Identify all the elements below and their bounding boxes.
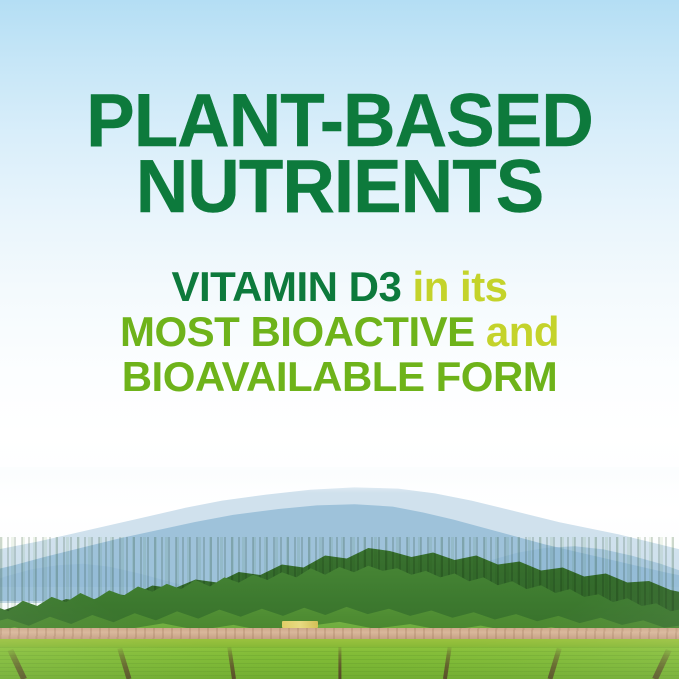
landscape-photo [0, 467, 679, 679]
subheadline-line-3: BIOAVAILABLE FORM [0, 356, 679, 398]
subheadline-line-2: MOST BIOACTIVE and [0, 311, 679, 353]
crop-furrow [338, 647, 341, 679]
subheadline-bioavailable-form: BIOAVAILABLE FORM [122, 353, 558, 400]
farm-structure [282, 621, 318, 628]
subheadline-in-its: in its [413, 263, 508, 310]
page-title: PLANT-BASED NUTRIENTS [0, 86, 679, 222]
subheadline-vitamin-d3: VITAMIN D3 [171, 263, 401, 310]
subheadline-line-1: VITAMIN D3 in its [0, 266, 679, 308]
promotional-poster: PLANT-BASED NUTRIENTS VITAMIN D3 in its … [0, 0, 679, 679]
subheadline: VITAMIN D3 in its MOST BIOACTIVE and BIO… [0, 266, 679, 398]
crop-field [0, 647, 679, 679]
subheadline-most-bioactive: MOST BIOACTIVE [120, 308, 475, 355]
subheadline-and: and [486, 308, 559, 355]
headline-line-2: NUTRIENTS [10, 152, 669, 222]
